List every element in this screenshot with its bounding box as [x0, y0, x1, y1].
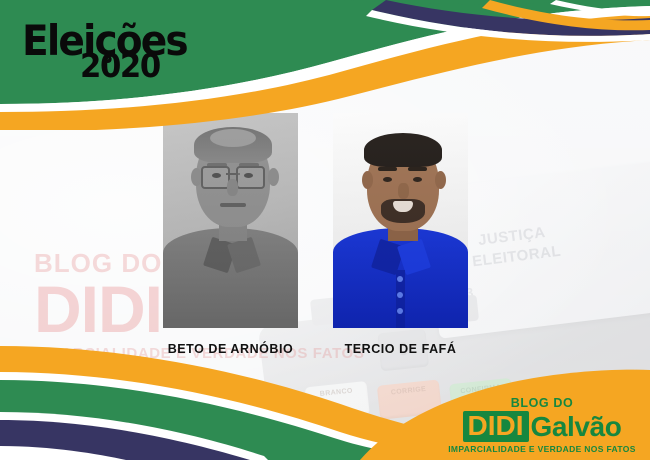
election-graphic-card: JUSTIÇA ELEITORAL 3 BRANCO CORRIGE CONFI…	[0, 0, 650, 460]
page-title: Eleições 2020	[22, 22, 199, 80]
site-logo[interactable]: BLOG DO DIDI Galvão IMPARCIALIDADE E VER…	[442, 397, 642, 455]
title-year: 2020	[80, 51, 191, 81]
logo-tagline: IMPARCIALIDADE E VERDADE NOS FATOS	[442, 444, 642, 454]
logo-didi: DIDI	[463, 411, 529, 442]
logo-block: BLOG DO DIDI Galvão IMPARCIALIDADE E VER…	[360, 355, 650, 460]
logo-blog-do: BLOG DO	[442, 397, 642, 410]
candidate-photo	[333, 113, 468, 328]
portrait-illustration	[333, 113, 468, 328]
candidate-photo	[163, 113, 298, 328]
portrait-illustration	[163, 113, 298, 328]
logo-galvao: Galvão	[531, 413, 622, 441]
